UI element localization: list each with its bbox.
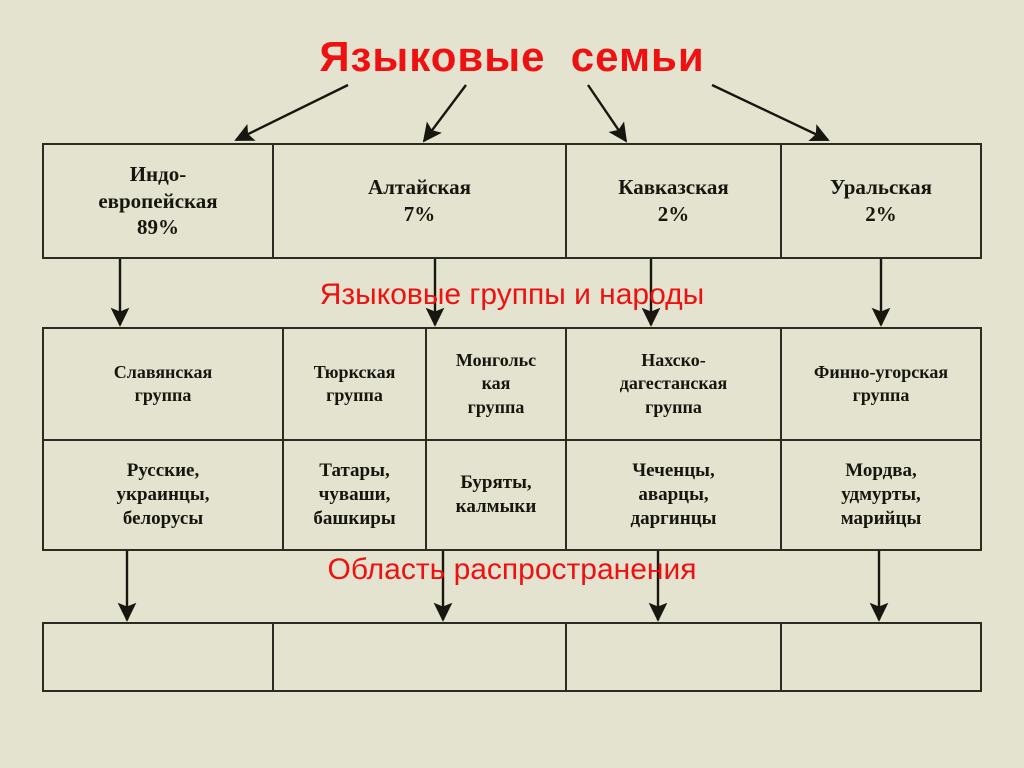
family-cell-indo-european[interactable]: Индо- европейская 89% (43, 144, 273, 258)
table-row: Индо- европейская 89% Алтайская 7% Кавка… (43, 144, 981, 258)
family-share: 89% (48, 214, 268, 241)
area-of-distribution-table (42, 622, 982, 692)
group-line2: кая (431, 372, 561, 395)
group-line3: группа (571, 396, 776, 419)
people-line2: украинцы, (48, 483, 278, 507)
group-cell-mongolic[interactable]: Монгольс кая группа (426, 328, 566, 440)
group-line2: группа (48, 384, 278, 407)
peoples-cell-slavic[interactable]: Русские, украинцы, белорусы (43, 440, 283, 550)
people-line1: Чеченцы, (571, 459, 776, 483)
group-cell-finno-ugric[interactable]: Финно-угорская группа (781, 328, 981, 440)
group-cell-slavic[interactable]: Славянская группа (43, 328, 283, 440)
group-line1: Славянская (48, 361, 278, 384)
people-line1: Татары, (288, 459, 421, 483)
family-name-line1: Индо- (48, 161, 268, 188)
caption-area-of-distribution: Область распространения (0, 553, 1024, 587)
group-line3: группа (431, 396, 561, 419)
table-row: Русские, украинцы, белорусы Татары, чува… (43, 440, 981, 550)
table-row: Славянская группа Тюркская группа Монгол… (43, 328, 981, 440)
family-cell-caucasian[interactable]: Кавказская 2% (566, 144, 781, 258)
family-name-line1: Алтайская (278, 174, 561, 201)
peoples-cell-finno-ugric[interactable]: Мордва, удмурты, марийцы (781, 440, 981, 550)
group-line2: группа (786, 384, 976, 407)
group-cell-turkic[interactable]: Тюркская группа (283, 328, 426, 440)
arrow-title-to-family-4 (712, 85, 828, 140)
language-families-table: Индо- европейская 89% Алтайская 7% Кавка… (42, 143, 982, 259)
peoples-cell-mongolic[interactable]: Буряты, калмыки (426, 440, 566, 550)
family-share: 2% (571, 201, 776, 228)
people-line2: калмыки (431, 495, 561, 519)
arrow-title-to-family-2 (424, 85, 466, 141)
group-line1: Нахско- (571, 349, 776, 372)
family-cell-altaic[interactable]: Алтайская 7% (273, 144, 566, 258)
group-line1: Тюркская (288, 361, 421, 384)
arrow-title-to-family-3 (588, 85, 626, 141)
group-line2: группа (288, 384, 421, 407)
group-cell-nakh-dagestanian[interactable]: Нахско- дагестанская группа (566, 328, 781, 440)
caption-language-groups-and-peoples: Языковые группы и народы (0, 278, 1024, 312)
people-line1: Русские, (48, 459, 278, 483)
people-line1: Мордва, (786, 459, 976, 483)
people-line2: чуваши, (288, 483, 421, 507)
people-line2: аварцы, (571, 483, 776, 507)
area-cell-1[interactable] (43, 623, 273, 691)
family-share: 2% (786, 201, 976, 228)
people-line3: башкиры (288, 507, 421, 531)
group-line1: Финно-угорская (786, 361, 976, 384)
people-line1: Буряты, (431, 471, 561, 495)
family-cell-uralic[interactable]: Уральская 2% (781, 144, 981, 258)
peoples-cell-turkic[interactable]: Татары, чуваши, башкиры (283, 440, 426, 550)
slide-canvas: Языковые семьи (0, 0, 1024, 768)
people-line3: белорусы (48, 507, 278, 531)
table-row (43, 623, 981, 691)
people-line3: марийцы (786, 507, 976, 531)
area-cell-4[interactable] (781, 623, 981, 691)
area-cell-2[interactable] (273, 623, 566, 691)
family-name-line1: Уральская (786, 174, 976, 201)
people-line3: даргинцы (571, 507, 776, 531)
family-share: 7% (278, 201, 561, 228)
group-line1: Монгольс (431, 349, 561, 372)
group-line2: дагестанская (571, 372, 776, 395)
family-name-line1: Кавказская (571, 174, 776, 201)
family-name-line2: европейская (48, 188, 268, 215)
peoples-cell-nakh-dagestanian[interactable]: Чеченцы, аварцы, даргинцы (566, 440, 781, 550)
area-cell-3[interactable] (566, 623, 781, 691)
people-line2: удмурты, (786, 483, 976, 507)
language-groups-table: Славянская группа Тюркская группа Монгол… (42, 327, 982, 551)
page-title: Языковые семьи (0, 33, 1024, 81)
arrow-title-to-family-1 (236, 85, 348, 140)
